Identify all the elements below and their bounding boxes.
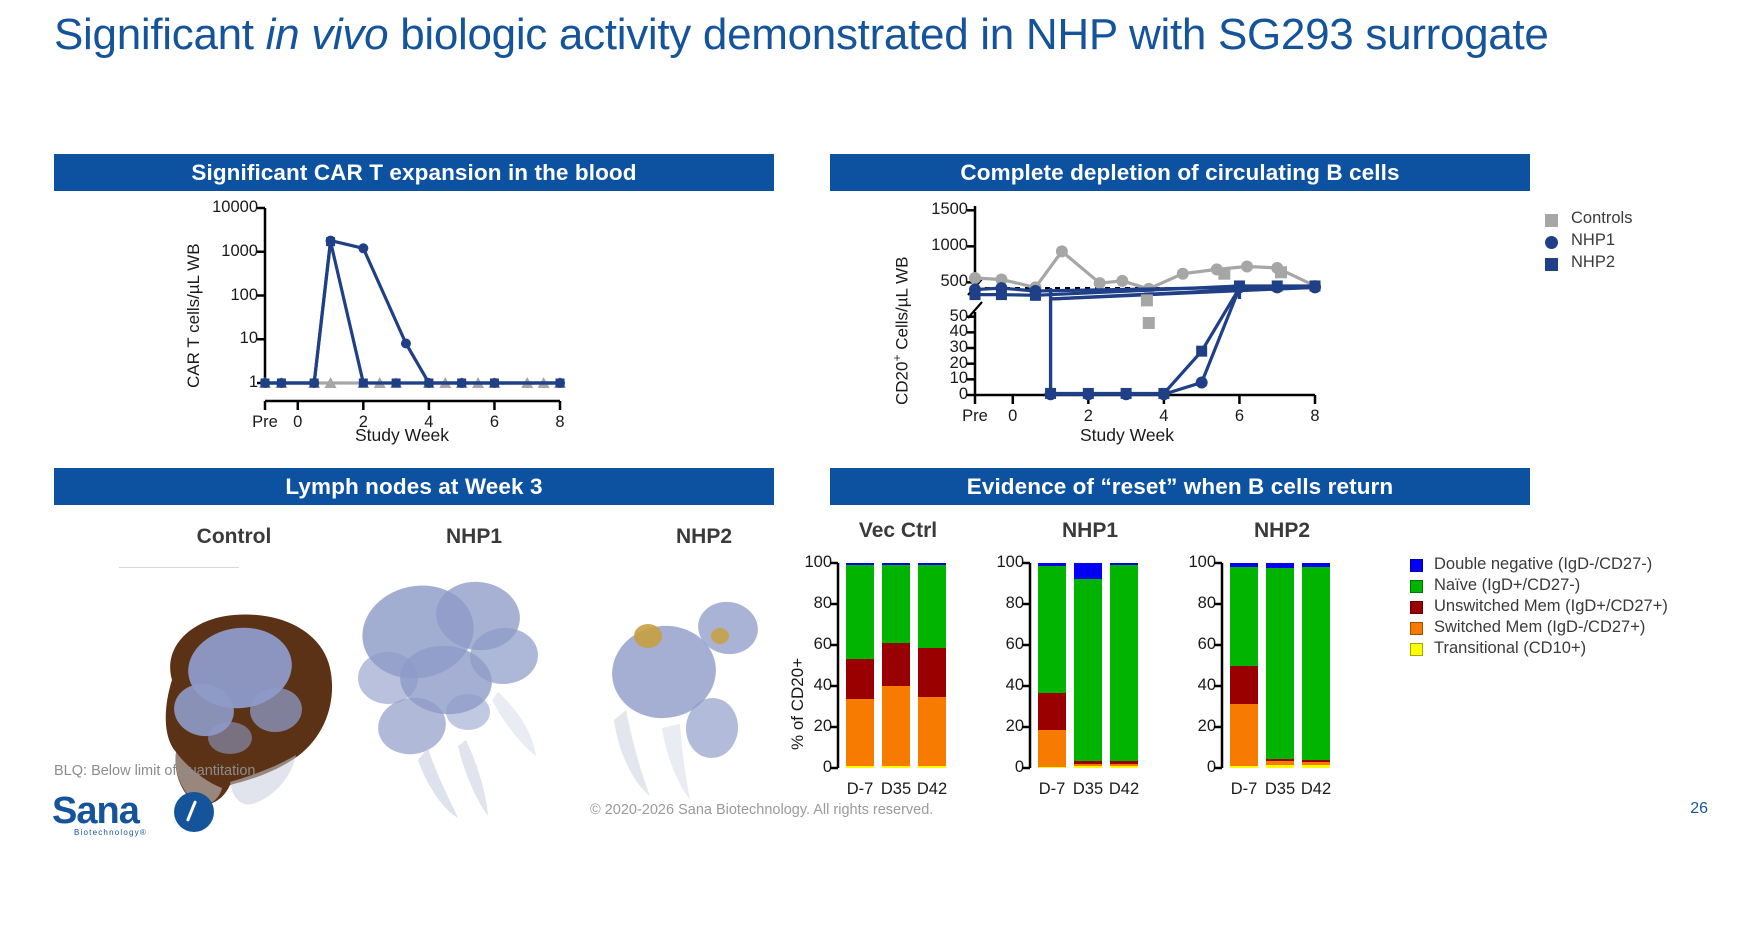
series-line-controls [975,251,1315,288]
legend-swatch-circle-icon [1545,236,1558,249]
bar-segment [1302,765,1330,768]
histology-follicle [358,652,418,704]
title-italic: in vivo [266,10,389,59]
stack-y-tick-0: 20 [776,717,832,736]
cd20-y-tick-upper: 1500 [883,200,968,219]
histology-label-control: Control [144,525,324,549]
legend-swatch-icon [1410,559,1423,572]
series-line-nhp1 [265,241,560,383]
bar-nhp2-D35 [1266,563,1294,768]
car-t-plot-area: 110100100010000Pre02468 [265,208,560,383]
bar-segment [1302,760,1330,762]
bar-segment [1074,563,1102,579]
bar-segment [918,565,946,648]
group-title-vec-ctrl: Vec Ctrl [838,519,958,543]
bar-nhp1-D-7 [1038,563,1066,768]
stack-y-axis-title: % of CD20+ [788,658,808,750]
cd20-upper-svg [975,206,1355,321]
histology-follicle [634,624,662,648]
cd20-y-tick-lower: 0 [883,385,968,404]
bar-segment [918,766,946,768]
data-point-marker [1083,388,1094,399]
panel-banner-car-t: Significant CAR T expansion in the blood [54,154,774,191]
legend-swatch-icon [1410,580,1423,593]
data-point-marker [555,378,565,388]
subsets-legend-item-2: Unswitched Mem (IgD+/CD27+) [1410,597,1668,616]
bar-segment [882,686,910,766]
bar-nhp1-D35 [1074,563,1102,768]
histology-label-nhp2: NHP2 [614,525,794,549]
bar-segment [1230,666,1258,704]
data-point-marker [276,378,286,388]
car-t-svg [260,208,645,453]
subsets-legend-item-1: Naïve (IgD+/CD27-) [1410,576,1580,595]
cd20-legend-item-nhp2: NHP2 [1545,253,1615,272]
stack-y-tick-2: 20 [1160,717,1216,736]
histology-tissue [662,724,690,800]
stack-y-tick-1: 80 [968,594,1024,613]
bar-vec-ctrl-D-7 [846,563,874,768]
data-point-marker [392,379,401,388]
histology-label-nhp1: NHP1 [384,525,564,549]
bar-segment [1110,563,1138,565]
bar-segment [1230,766,1258,768]
data-point-marker [1056,245,1068,257]
bar-segment [1074,579,1102,760]
stack-y-tick-0: 100 [776,553,832,572]
bar-segment [1038,563,1066,566]
data-point-marker [401,338,411,348]
bar-segment [1266,759,1294,761]
data-point-marker [1275,266,1287,278]
histology-tissue [614,710,650,796]
histology-tissue [458,740,488,816]
bar-segment [1074,766,1102,768]
bar-segment [882,766,910,768]
legend-swatch-icon [1410,643,1423,656]
stack-y-tick-2: 100 [1160,553,1216,572]
bar-category-label: D42 [904,780,960,799]
stack-y-tick-0: 60 [776,635,832,654]
cd20-legend-item-controls: Controls [1545,209,1632,228]
stack-y-tick-2: 0 [1160,758,1216,777]
stack-y-tick-0: 0 [776,758,832,777]
bar-segment [1266,568,1294,759]
bar-segment [1266,765,1294,768]
bar-segment [1074,761,1102,764]
logo-tagline: Biotechnology® [74,828,147,837]
data-point-marker [309,378,319,388]
data-point-marker [1272,280,1283,291]
bar-segment [1038,693,1066,730]
bar-segment [1110,761,1138,764]
chart-car-t-expansion: CAR T cells/µL WB Study Week 11010010001… [170,200,710,450]
legend-swatch-square-icon [1545,258,1558,271]
slide-root: Significant in vivo biologic activity de… [0,0,1744,939]
bar-segment [1230,567,1258,666]
data-point-marker [1116,275,1128,287]
cd20-y-tick-upper: 1000 [883,236,968,255]
data-point-marker [260,378,270,388]
panel-banner-reset: Evidence of “reset” when B cells return [830,468,1530,505]
bar-segment [1110,565,1138,761]
panel-banner-lymph-nodes: Lymph nodes at Week 3 [54,468,774,505]
bar-segment [1230,563,1258,567]
logo-wordmark: Sana [52,790,139,833]
lymph-node-images: ControlNHP1NHP2 [54,515,774,775]
bar-nhp1-D42 [1110,563,1138,768]
histology-svg [54,560,774,820]
bar-segment [1074,764,1102,766]
panel-banner-b-cells: Complete depletion of circulating B cell… [830,154,1530,191]
bar-segment [1302,762,1330,765]
series-line-nhp2 [265,242,560,383]
stack-y-tick-0: 80 [776,594,832,613]
histology-follicle [208,722,252,754]
cd20-lower-svg [975,312,1355,435]
data-point-marker [424,378,434,388]
title-part-2: biologic activity demonstrated in NHP wi… [388,10,1548,59]
cd20-lower-plot-area: 50403020100Pre02468 [975,312,1315,395]
bar-segment [882,643,910,686]
legend-swatch-icon [1410,601,1423,614]
bar-segment [846,565,874,659]
bar-segment [918,648,946,697]
stack-y-tick-0: 40 [776,676,832,695]
subsets-legend-item-0: Double negative (IgD-/CD27-) [1410,555,1652,574]
data-point-marker [359,379,368,388]
stack-y-tick-2: 80 [1160,594,1216,613]
cd20-legend-item-nhp1: NHP1 [1545,231,1615,250]
bar-segment [918,697,946,766]
car-t-y-axis-title: CAR T cells/µL WB [184,243,204,388]
car-t-y-tick: 1 [170,373,258,392]
stack-y-tick-1: 20 [968,717,1024,736]
histology-tissue [418,748,458,818]
bar-segment [882,565,910,643]
stack-y-tick-2: 40 [1160,676,1216,695]
car-t-y-tick: 10 [170,329,258,348]
data-point-marker [457,378,467,388]
data-point-marker [970,289,981,300]
data-point-marker [969,272,981,284]
car-t-y-tick: 10000 [170,198,258,217]
bar-nhp2-D42 [1302,563,1330,768]
bar-vec-ctrl-D42 [918,563,946,768]
data-point-marker [326,236,336,246]
bar-vec-ctrl-D35 [882,563,910,768]
group-title-nhp1: NHP1 [1030,519,1150,543]
histology-follicle [446,694,490,730]
bar-segment [1302,567,1330,760]
bar-segment [1038,566,1066,693]
legend-swatch-icon [1410,622,1423,635]
data-point-marker [358,243,368,253]
chart-b-cell-subsets: % of CD20+ Vec Ctrl020406080100D-7D35D42… [790,515,1744,805]
bar-segment [918,563,946,565]
footnote-blq: BLQ: Below limit of quantitation [54,763,256,779]
cd20-upper-plot-area: 15001000500 [975,206,1315,291]
car-t-y-tick: 100 [170,286,258,305]
data-point-marker [489,378,499,388]
stack-y-tick-1: 40 [968,676,1024,695]
cd20-y-tick-upper: 500 [883,272,968,291]
data-point-marker [1177,268,1189,280]
page-number: 26 [1690,800,1708,818]
bar-segment [1110,766,1138,768]
histology-follicle [711,628,729,644]
group-title-nhp2: NHP2 [1222,519,1342,543]
subsets-legend-item-4: Transitional (CD10+) [1410,639,1586,658]
legend-swatch-square-icon [1545,214,1558,227]
sana-logo: Sana Biotechnology® [52,790,242,842]
data-point-marker [1030,290,1041,301]
data-point-marker [1094,277,1106,289]
bar-category-label: D42 [1096,780,1152,799]
data-point-marker [1241,261,1253,273]
data-point-marker [1121,388,1132,399]
bar-segment [1266,761,1294,765]
stack-y-tick-1: 0 [968,758,1024,777]
stack-y-tick-1: 60 [968,635,1024,654]
bar-segment [1110,764,1138,766]
bar-segment [1038,730,1066,767]
data-point-marker [1141,294,1153,306]
car-t-y-tick: 1000 [170,242,258,261]
bar-segment [846,659,874,699]
copyright-text: © 2020-2026 Sana Biotechnology. All righ… [590,802,933,818]
bar-segment [846,563,874,565]
bar-segment [1230,704,1258,766]
bar-segment [1038,767,1066,768]
stack-y-tick-1: 100 [968,553,1024,572]
logo-dot-icon [174,792,214,832]
data-point-marker [1158,388,1169,399]
chart-b-cell-depletion: CD20+ Cells/µL WB Study Week 15001000500… [880,200,1440,450]
data-point-marker [1143,317,1155,329]
subsets-legend-item-3: Switched Mem (IgD-/CD27+) [1410,618,1645,637]
bar-segment [846,766,874,768]
series-line-nhp2 [1051,351,1202,393]
stack-y-tick-2: 60 [1160,635,1216,654]
bar-segment [1266,563,1294,568]
data-point-marker [996,289,1007,300]
page-title: Significant in vivo biologic activity de… [54,8,1554,63]
histology-tissue [492,692,536,756]
bar-segment [882,563,910,565]
data-point-marker [1218,268,1230,280]
bar-segment [846,699,874,766]
bar-segment [1302,563,1330,567]
bar-nhp2-D-7 [1230,563,1258,768]
title-part-1: Significant [54,10,266,59]
bar-category-label: D42 [1288,780,1344,799]
